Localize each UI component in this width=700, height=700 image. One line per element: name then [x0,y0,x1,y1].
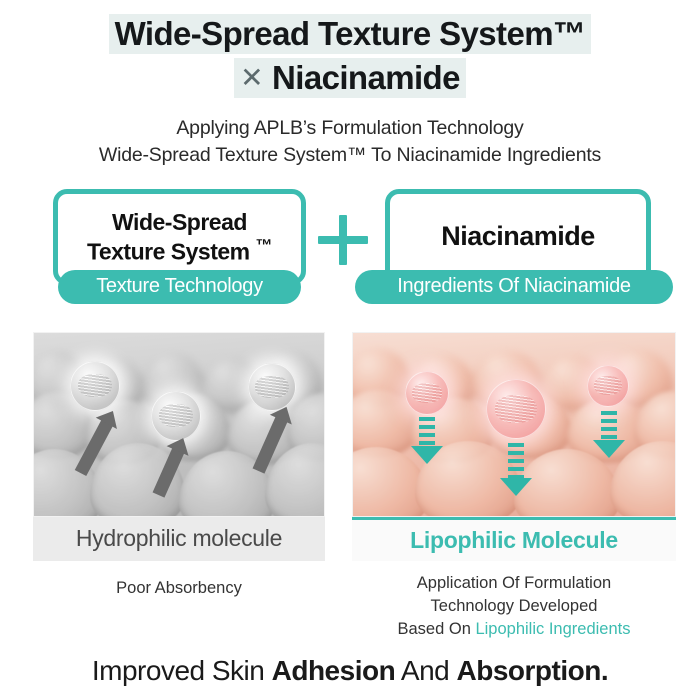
card-left-line1: Wide-Spread [112,209,247,235]
note-poor-absorbency: Poor Absorbency [33,577,325,600]
note-line-3: Based On Lipophilic Ingredients [352,618,676,641]
pill-ingredients-of-niacinamide: Ingredients Of Niacinamide [355,270,673,304]
note-line-2: Technology Developed [352,595,676,618]
subtitle-block: Applying APLB’s Formulation Technology W… [0,115,700,169]
absorb-arrow-icon [419,417,435,447]
panel-lipophilic: Lipophilic Molecule Application Of Formu… [352,332,676,641]
multiply-icon: ✕ [240,62,272,93]
subtitle-line-2: Wide-Spread Texture System™ To Niacinami… [0,142,700,169]
footer-part-1: Improved Skin [92,655,272,686]
pill-texture-technology: Texture Technology [58,270,301,304]
title-line-1: Wide-Spread Texture System™ [0,14,700,54]
footer-bold-absorption: Absorption. [457,655,609,686]
panel-hydrophilic: Hydrophilic molecule Poor Absorbency [33,332,325,600]
trademark-icon: ™ [255,236,272,255]
title-primary-text: Wide-Spread Texture System™ [109,14,592,54]
card-left-line2: Texture System [87,239,250,265]
molecule-sphere [151,391,201,441]
caption-hydrophilic-text: Hydrophilic molecule [76,525,282,552]
photo-lipophilic-skin [352,332,676,517]
pill-left-label: Texture Technology [96,275,263,298]
title-line-2: ✕Niacinamide [0,58,700,98]
note-line-1: Application Of Formulation [352,572,676,595]
plus-icon [318,215,368,265]
comparison-panels: Hydrophilic molecule Poor Absorbency [0,332,700,562]
title-secondary-wrap: ✕Niacinamide [234,58,466,98]
title-block: Wide-Spread Texture System™ ✕Niacinamide [0,0,700,98]
caption-lipophilic: Lipophilic Molecule [352,517,676,561]
molecule-sphere [405,371,449,415]
molecule-sphere [248,363,296,411]
photo-hydrophilic-skin [33,332,325,517]
card-left-text: Wide-Spread Texture System ™ [87,208,272,266]
footer-bold-adhesion: Adhesion [272,655,396,686]
caption-lipophilic-text: Lipophilic Molecule [410,527,618,554]
footer-tagline: Improved Skin Adhesion And Absorption. [0,655,700,687]
caption-hydrophilic: Hydrophilic molecule [33,517,325,561]
absorb-arrow-icon [508,443,524,479]
footer-part-2: And [395,655,456,686]
note-lipophilic: Application Of Formulation Technology De… [352,572,676,641]
card-right-text: Niacinamide [441,220,595,253]
note-line-3-prefix: Based On [398,620,476,638]
absorb-arrow-icon [601,411,617,441]
subtitle-line-1: Applying APLB’s Formulation Technology [0,115,700,142]
note-line-3-highlight: Lipophilic Ingredients [475,620,630,638]
molecule-sphere [486,379,546,439]
pill-right-label: Ingredients Of Niacinamide [397,275,630,298]
infographic-page: Wide-Spread Texture System™ ✕Niacinamide… [0,0,700,700]
title-secondary-text: Niacinamide [272,59,460,96]
molecule-sphere [587,365,629,407]
card-row: Wide-Spread Texture System ™ Niacinamide… [0,185,700,320]
molecule-sphere [70,361,120,411]
